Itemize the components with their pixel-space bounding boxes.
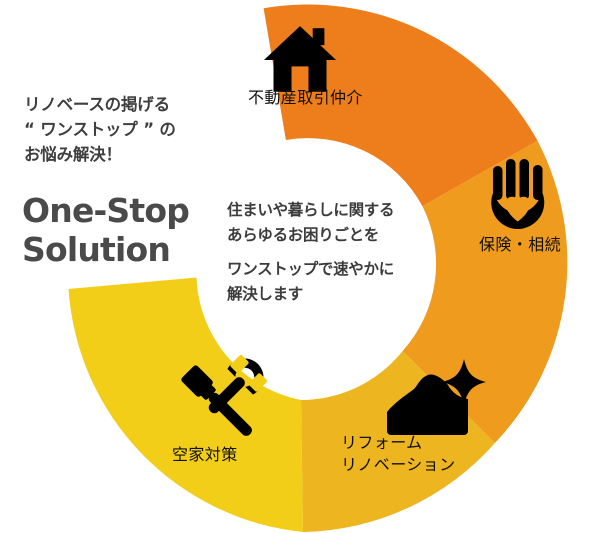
segment-label-fudosan-line-1: 不動産取引仲介 <box>248 87 363 109</box>
lead-line-3: お悩み解決！ <box>24 142 214 167</box>
center-copy-line-3: ワンストップで速やかに <box>227 257 442 282</box>
page-title: One-Stop Solution <box>22 192 252 270</box>
center-copy: 住まいや暮らしに関する あらゆるお困りごとを ワンストップで速やかに 解決します <box>227 198 442 307</box>
page-title-line-1: One-Stop <box>22 192 252 231</box>
segment-label-akiya-line-1: 空家対策 <box>172 444 238 466</box>
segment-label-reform-line-1: リフォーム <box>341 432 455 454</box>
lead-line-1: リノベースの掲げる <box>24 92 214 117</box>
center-copy-line-1: 住まいや暮らしに関する <box>227 198 442 223</box>
center-copy-spacer <box>227 248 442 257</box>
lead-line-2: “ ワンストップ ” の <box>24 117 214 142</box>
lead-headline: リノベースの掲げる “ ワンストップ ” の お悩み解決！ <box>24 92 214 167</box>
segment-label-reform-line-2: リノベーション <box>341 454 455 476</box>
segment-label-akiya[interactable]: 空家対策 <box>172 444 238 466</box>
center-copy-line-2: あらゆるお困りごとを <box>227 223 442 248</box>
one-stop-solution-diagram: リノベースの掲げる “ ワンストップ ” の お悩み解決！ One-Stop S… <box>0 0 600 533</box>
page-title-line-2: Solution <box>22 231 252 270</box>
segment-label-fudosan[interactable]: 不動産取引仲介 <box>248 87 363 109</box>
segment-label-reform[interactable]: リフォーム リノベーション <box>341 432 455 476</box>
center-copy-line-4: 解決します <box>227 282 442 307</box>
segment-label-hoken[interactable]: 保険・相続 <box>479 234 561 256</box>
segment-label-hoken-line-1: 保険・相続 <box>479 234 561 256</box>
donut-segment-akiya[interactable] <box>69 278 304 533</box>
